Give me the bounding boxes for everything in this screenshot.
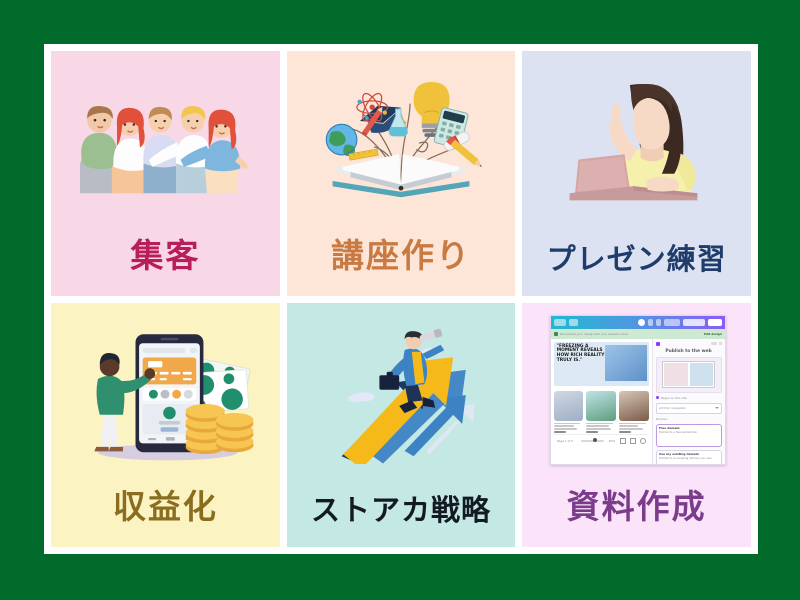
card-label-shukyaku: 集客 bbox=[51, 241, 280, 274]
page-indicator: Page 1 of 5 bbox=[557, 439, 573, 442]
fullscreen-icon[interactable] bbox=[630, 438, 636, 444]
thumbnail-item[interactable] bbox=[554, 391, 584, 435]
panel-preview-image bbox=[656, 357, 722, 393]
card-presen-renshu[interactable]: プレゼン練習 bbox=[522, 51, 751, 296]
panel-minimize-icon[interactable] bbox=[711, 342, 717, 345]
hero-photo bbox=[605, 345, 647, 381]
chevron-down-icon[interactable] bbox=[715, 407, 719, 409]
zoom-slider[interactable] bbox=[581, 440, 604, 442]
card-label-storeaca-senryaku: ストアカ戦略 bbox=[287, 496, 516, 525]
free-domain-option[interactable]: Free domain Publish to a free subdomain bbox=[656, 424, 722, 447]
editor-canvas[interactable]: "FREEZING A MOMENT REVEALS HOW RICH REAL… bbox=[551, 339, 652, 464]
panel-domain-label: Domain bbox=[656, 417, 710, 420]
topbar-home-button[interactable] bbox=[554, 319, 566, 326]
thumbnail-item[interactable] bbox=[619, 391, 649, 435]
card-shuekika[interactable]: 収益化 bbox=[51, 303, 280, 548]
open-book-icon bbox=[287, 55, 516, 225]
topbar-redo-icon[interactable] bbox=[656, 319, 661, 326]
panel-icon bbox=[656, 342, 660, 346]
existing-domain-desc: Publish to an existing domain you own bbox=[659, 456, 705, 459]
card-label-presen-renshu: プレゼン練習 bbox=[522, 245, 751, 274]
topbar-file-button[interactable] bbox=[569, 319, 578, 326]
card-label-kouza-zukuri: 講座作り bbox=[287, 241, 516, 274]
publish-panel[interactable]: Publish to the web Pages on this bbox=[652, 339, 725, 464]
topbar-undo-icon[interactable] bbox=[648, 319, 653, 326]
card-storeaca-senryaku[interactable]: ストアカ戦略 bbox=[287, 303, 516, 548]
topbar-avatar-icon[interactable] bbox=[638, 319, 645, 326]
editor-body: "FREEZING A MOMENT REVEALS HOW RICH REAL… bbox=[551, 339, 725, 464]
editor-topbar[interactable] bbox=[551, 316, 725, 329]
topbar-try-pro-button[interactable] bbox=[664, 319, 680, 326]
hero-headline: "FREEZING A MOMENT REVEALS HOW RICH REAL… bbox=[557, 345, 606, 365]
panel-title: Publish to the web bbox=[656, 349, 722, 354]
pages-radio[interactable] bbox=[656, 396, 660, 400]
woman-laptop-icon bbox=[522, 55, 751, 225]
free-domain-desc: Publish to a free subdomain bbox=[659, 430, 705, 433]
editor-notice-bar[interactable]: Personalise your design with your websit… bbox=[551, 329, 725, 339]
card-shiryo-sakusei[interactable]: Personalise your design with your websit… bbox=[522, 303, 751, 548]
card-label-shuekika: 収益化 bbox=[51, 492, 280, 525]
card-grid: 集客 bbox=[51, 51, 751, 547]
card-shukyaku[interactable]: 集客 bbox=[51, 51, 280, 296]
panel-section-label: Pages on this site bbox=[661, 396, 687, 399]
pages-select[interactable]: All from navigation bbox=[656, 403, 722, 414]
card-label-shiryo-sakusei: 資料作成 bbox=[522, 492, 751, 525]
mobile-payment-icon bbox=[51, 307, 280, 477]
topbar-publish-website-button[interactable] bbox=[683, 319, 705, 326]
card-kouza-zukuri[interactable]: 講座作り bbox=[287, 51, 516, 296]
panel-close-icon[interactable] bbox=[719, 342, 722, 345]
people-group-icon bbox=[51, 55, 280, 225]
grid-view-icon[interactable] bbox=[620, 438, 626, 444]
thumbnail-row bbox=[554, 391, 649, 435]
zoom-level[interactable]: 60% bbox=[608, 439, 614, 442]
existing-domain-title: Use my existing domain bbox=[659, 452, 708, 455]
white-frame: 集客 bbox=[44, 44, 758, 554]
poster-canvas: 集客 bbox=[0, 0, 800, 600]
free-domain-title: Free domain bbox=[659, 426, 708, 429]
design-editor-icon: Personalise your design with your websit… bbox=[522, 307, 751, 477]
notice-action-link[interactable]: Edit design bbox=[704, 332, 722, 335]
editor-footer[interactable]: Page 1 of 5 60% bbox=[554, 434, 649, 446]
thumbnail-item[interactable] bbox=[586, 391, 616, 435]
existing-domain-option[interactable]: Use my existing domain Publish to an exi… bbox=[656, 450, 722, 465]
editor-window[interactable]: Personalise your design with your websit… bbox=[550, 315, 726, 465]
pages-select-value: All from navigation bbox=[659, 406, 686, 409]
growth-arrows-icon bbox=[287, 307, 516, 477]
help-icon[interactable] bbox=[640, 438, 646, 444]
topbar-share-button[interactable] bbox=[708, 319, 722, 326]
notice-text: Personalise your design with your websit… bbox=[560, 332, 629, 335]
hero-block[interactable]: "FREEZING A MOMENT REVEALS HOW RICH REAL… bbox=[554, 342, 649, 386]
notice-icon bbox=[554, 332, 558, 336]
